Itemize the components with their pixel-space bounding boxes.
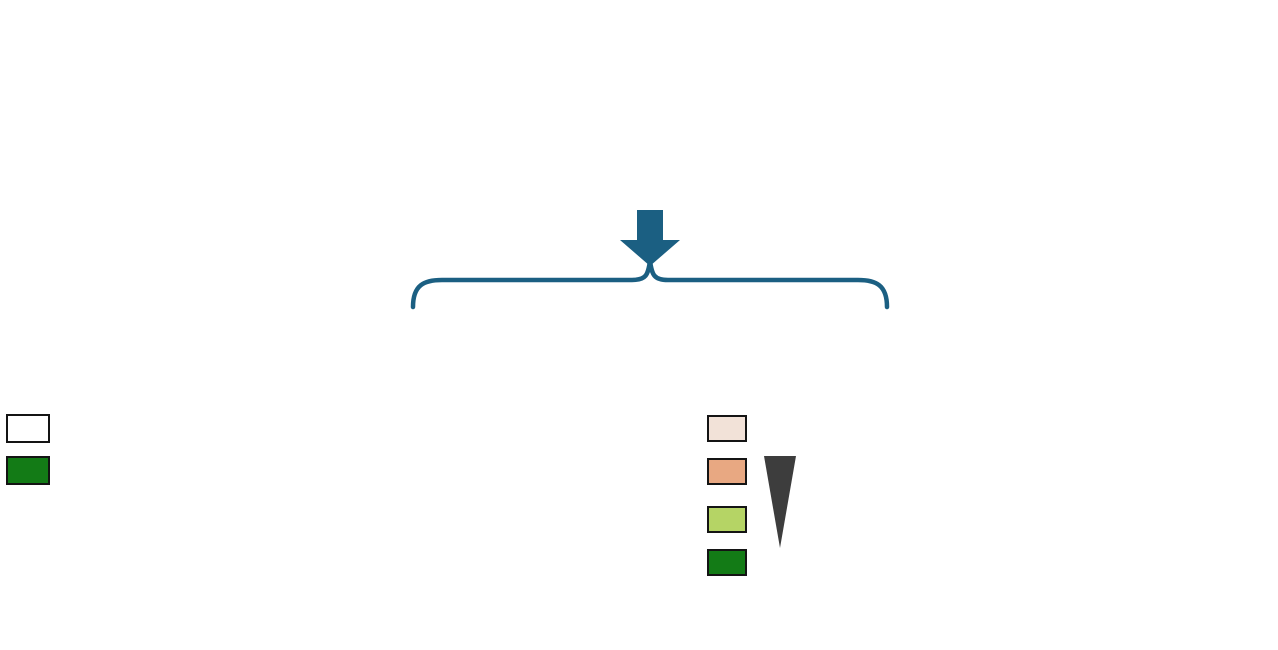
marxan-output-grid: [155, 405, 465, 585]
zonation-output-grid-svg: [855, 400, 1275, 585]
curly-brace-icon: [410, 255, 890, 313]
legend-swatch-priority-4: [707, 549, 747, 576]
legend-swatch-priority-2: [707, 458, 747, 485]
priority-legend-swatch-3: [707, 506, 747, 533]
planning-site-grid: [410, 30, 850, 220]
priority-legend-swatch-high: [707, 549, 747, 576]
priority-legend-swatch-low: [707, 415, 747, 442]
zonation-output-grid: [855, 400, 1275, 585]
legend-item-selected: [6, 456, 72, 485]
priority-gradient-triangle: [762, 456, 802, 548]
legend-item-not-selected: [6, 414, 72, 443]
curly-brace: [410, 255, 890, 313]
marxan-output-grid-svg: [155, 405, 465, 585]
triangle-down-icon: [762, 456, 802, 548]
legend-swatch-not-selected: [6, 414, 50, 443]
legend-swatch-priority-3: [707, 506, 747, 533]
planning-site-grid-svg: [410, 30, 850, 220]
priority-legend-swatch-2: [707, 458, 747, 485]
legend-swatch-priority-1: [707, 415, 747, 442]
legend-swatch-selected: [6, 456, 50, 485]
